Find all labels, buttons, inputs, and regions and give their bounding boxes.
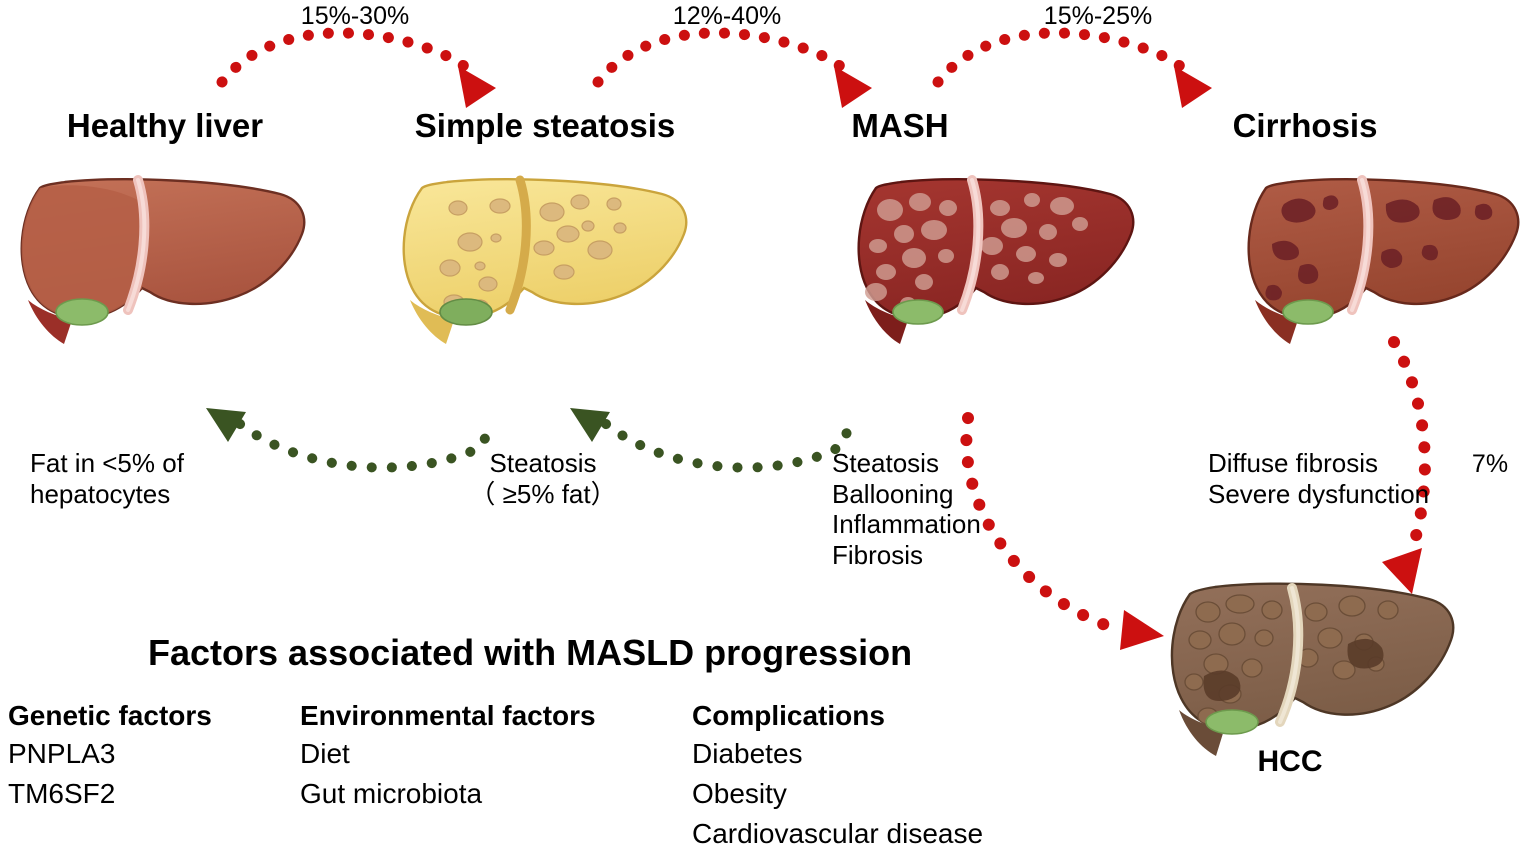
steatosis-liver-illustration (392, 160, 702, 350)
stage-title-hcc: HCC (1258, 745, 1323, 779)
progress-arrow-2 (598, 33, 872, 108)
factor-item: Gut microbiota (300, 774, 596, 814)
healthy-liver-illustration (10, 160, 320, 350)
description-healthy-liver: Fat in <5% of hepatocytes (30, 448, 184, 509)
progress-arrow-3 (938, 33, 1212, 108)
stage-title-simple-steatosis: Simple steatosis (415, 107, 675, 145)
desc-line: Steatosis (832, 448, 981, 479)
desc-line: Ballooning (832, 479, 981, 510)
desc-line: Inflammation (832, 509, 981, 540)
cirrhosis-liver-illustration (1238, 160, 1533, 350)
factor-item: Cardiovascular disease (692, 814, 983, 853)
factors-column-heading: Complications (692, 700, 983, 732)
description-cirrhosis: Diffuse fibrosis Severe dysfunction (1208, 448, 1429, 509)
mash-to-hcc-arrow (966, 418, 1164, 650)
desc-line: Diffuse fibrosis (1208, 448, 1429, 479)
progression-rate-2: 12%-40% (673, 2, 781, 31)
description-simple-steatosis: Steatosis （ ≥5% fat） (469, 448, 616, 509)
factors-column-genetic: Genetic factors PNPLA3 TM6SF2 (8, 700, 212, 814)
desc-line: Fat in <5% of (30, 448, 184, 479)
stage-title-cirrhosis: Cirrhosis (1233, 107, 1378, 145)
factors-column-heading: Genetic factors (8, 700, 212, 732)
factors-column-heading: Environmental factors (300, 700, 596, 732)
desc-line: Severe dysfunction (1208, 479, 1429, 510)
progression-rate-1: 15%-30% (301, 2, 409, 31)
stage-title-mash: MASH (851, 107, 948, 145)
factor-item: Diet (300, 734, 596, 774)
factor-item: PNPLA3 (8, 734, 212, 774)
regression-arrow-1 (206, 408, 488, 468)
factors-column-environmental: Environmental factors Diet Gut microbiot… (300, 700, 596, 814)
desc-line: hepatocytes (30, 479, 184, 510)
hcc-liver-illustration (1160, 560, 1460, 760)
mash-liver-illustration (848, 160, 1148, 350)
factor-item: TM6SF2 (8, 774, 212, 814)
progression-rate-4: 7% (1472, 450, 1508, 479)
desc-line: （ ≥5% fat） (469, 479, 616, 510)
desc-line: Steatosis (469, 448, 616, 479)
factor-item: Obesity (692, 774, 983, 814)
factor-item: Diabetes (692, 734, 983, 774)
description-mash: Steatosis Ballooning Inflammation Fibros… (832, 448, 981, 571)
desc-line: Fibrosis (832, 540, 981, 571)
factors-column-complications: Complications Diabetes Obesity Cardiovas… (692, 700, 983, 853)
progress-arrow-1 (222, 33, 496, 108)
factors-section-title: Factors associated with MASLD progressio… (148, 632, 912, 674)
stage-title-healthy-liver: Healthy liver (67, 107, 263, 145)
progression-rate-3: 15%-25% (1044, 2, 1152, 31)
